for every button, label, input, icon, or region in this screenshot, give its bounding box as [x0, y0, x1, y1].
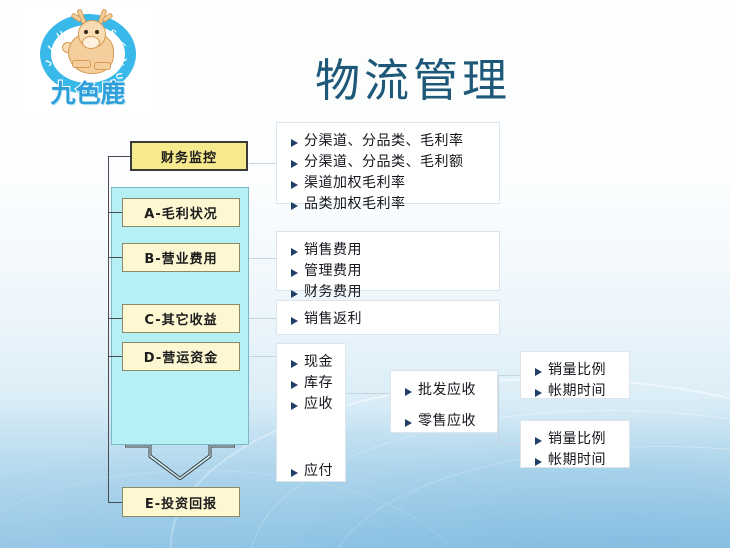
detail-box-other-income: 销售返利	[276, 300, 500, 335]
link-working-capital	[249, 356, 277, 357]
detail-box-operating-expense: 销售费用 管理费用 财务费用	[276, 231, 500, 291]
detail-text: 应付	[304, 462, 333, 481]
deer-snout	[82, 36, 100, 49]
detail-text: 渠道加权毛利率	[304, 174, 406, 193]
triangle-bullet-icon	[291, 248, 298, 256]
deer-leg-front	[72, 60, 91, 68]
list-item: 应付	[291, 462, 345, 481]
detail-text: 分渠道、分品类、毛利率	[304, 132, 464, 151]
triangle-bullet-icon	[291, 469, 298, 477]
box-item-label-0: A-毛利状况	[144, 203, 217, 222]
box-item-working-capital[interactable]: D-营运资金	[122, 342, 240, 371]
page-title: 物流管理	[315, 44, 511, 109]
link-retail-terms	[498, 443, 520, 444]
box-item-label-1: B-营业费用	[144, 248, 217, 267]
panel-down-arrow-icon	[125, 445, 235, 480]
list-item: 销售返利	[291, 310, 499, 329]
list-item: 应收	[291, 395, 345, 414]
spine-vertical-line	[108, 156, 109, 503]
triangle-bullet-icon	[535, 389, 542, 397]
detail-text: 帐期时间	[548, 382, 606, 401]
detail-text: 销售返利	[304, 310, 362, 329]
triangle-bullet-icon	[291, 317, 298, 325]
triangle-bullet-icon	[291, 202, 298, 210]
triangle-bullet-icon	[291, 290, 298, 298]
ring-letter-0: J	[43, 58, 54, 67]
detail-text: 库存	[304, 374, 333, 393]
list-item: 帐期时间	[535, 382, 629, 401]
detail-box-working-capital: 现金 库存 应收 应付	[276, 343, 346, 482]
box-result-investment-return[interactable]: E-投资回报	[122, 487, 240, 517]
ring-letter-1: I	[46, 44, 55, 53]
triangle-bullet-icon	[291, 360, 298, 368]
triangle-bullet-icon	[405, 388, 412, 396]
link-operating-expense	[249, 258, 277, 259]
box-item-label-2: C-其它收益	[144, 309, 217, 328]
list-item: 销售费用	[291, 241, 499, 260]
triangle-bullet-icon	[405, 419, 412, 427]
list-item: 销量比例	[535, 361, 629, 380]
detail-box-gross-profit: 分渠道、分品类、毛利率 分渠道、分品类、毛利额 渠道加权毛利率 品类加权毛利率	[276, 122, 500, 204]
box-item-label-3: D-营运资金	[144, 347, 218, 366]
logo-brand-text: 九色鹿	[32, 74, 144, 110]
list-item: 帐期时间	[535, 451, 629, 470]
deer-leg-back	[94, 62, 111, 70]
list-item: 库存	[291, 374, 345, 393]
link-receivables	[345, 393, 390, 394]
link-gross-profit	[249, 163, 277, 164]
triangle-bullet-icon	[535, 458, 542, 466]
detail-text: 帐期时间	[548, 451, 606, 470]
deer-eye-left	[84, 30, 88, 34]
ring-letter-4: E	[116, 40, 127, 51]
triangle-bullet-icon	[291, 381, 298, 389]
box-main-finance-monitor[interactable]: 财务监控	[130, 141, 248, 171]
detail-box-wholesale-terms: 销量比例 帐期时间	[520, 351, 630, 399]
detail-text: 管理费用	[304, 262, 362, 281]
deer-eye-right	[95, 30, 99, 34]
detail-text: 应收	[304, 395, 333, 414]
list-item: 现金	[291, 353, 345, 372]
list-item: 渠道加权毛利率	[291, 174, 499, 193]
triangle-bullet-icon	[291, 269, 298, 277]
box-result-label: E-投资回报	[145, 493, 217, 512]
list-item: 批发应收	[405, 381, 497, 400]
ring-letter-5: L	[119, 57, 130, 67]
triangle-bullet-icon	[535, 437, 542, 445]
detail-box-retail-terms: 销量比例 帐期时间	[520, 420, 630, 468]
box-item-other-income[interactable]: C-其它收益	[122, 304, 240, 333]
ring-letter-3: S	[108, 27, 118, 39]
box-item-operating-expense[interactable]: B-营业费用	[122, 243, 240, 272]
slide-canvas: J I U S E L U 九色鹿 物流管理	[0, 0, 730, 548]
list-item: 分渠道、分品类、毛利额	[291, 153, 499, 172]
detail-text: 品类加权毛利率	[304, 195, 406, 214]
triangle-bullet-icon	[535, 368, 542, 376]
detail-text: 现金	[304, 353, 333, 372]
link-terms-riser	[498, 375, 499, 443]
detail-text: 销量比例	[548, 430, 606, 449]
detail-text: 销量比例	[548, 361, 606, 380]
list-item: 零售应收	[405, 412, 497, 431]
box-item-gross-profit[interactable]: A-毛利状况	[122, 198, 240, 227]
company-logo: J I U S E L U 九色鹿	[22, 8, 154, 118]
detail-text: 销售费用	[304, 241, 362, 260]
link-other-income	[249, 318, 277, 319]
ring-letter-2: U	[55, 29, 65, 41]
box-main-label: 财务监控	[161, 147, 217, 166]
triangle-bullet-icon	[291, 160, 298, 168]
triangle-bullet-icon	[291, 181, 298, 189]
detail-box-receivables: 批发应收 零售应收	[390, 370, 498, 433]
detail-text: 批发应收	[418, 381, 476, 400]
triangle-bullet-icon	[291, 139, 298, 147]
triangle-bullet-icon	[291, 402, 298, 410]
link-wholesale-terms	[498, 375, 520, 376]
logo-brand-char: 九色鹿	[50, 74, 125, 110]
list-item: 品类加权毛利率	[291, 195, 499, 214]
list-item: 销量比例	[535, 430, 629, 449]
detail-text: 分渠道、分品类、毛利额	[304, 153, 464, 172]
list-item: 管理费用	[291, 262, 499, 281]
list-item: 分渠道、分品类、毛利率	[291, 132, 499, 151]
connector-main	[108, 156, 130, 157]
detail-text: 零售应收	[418, 412, 476, 431]
